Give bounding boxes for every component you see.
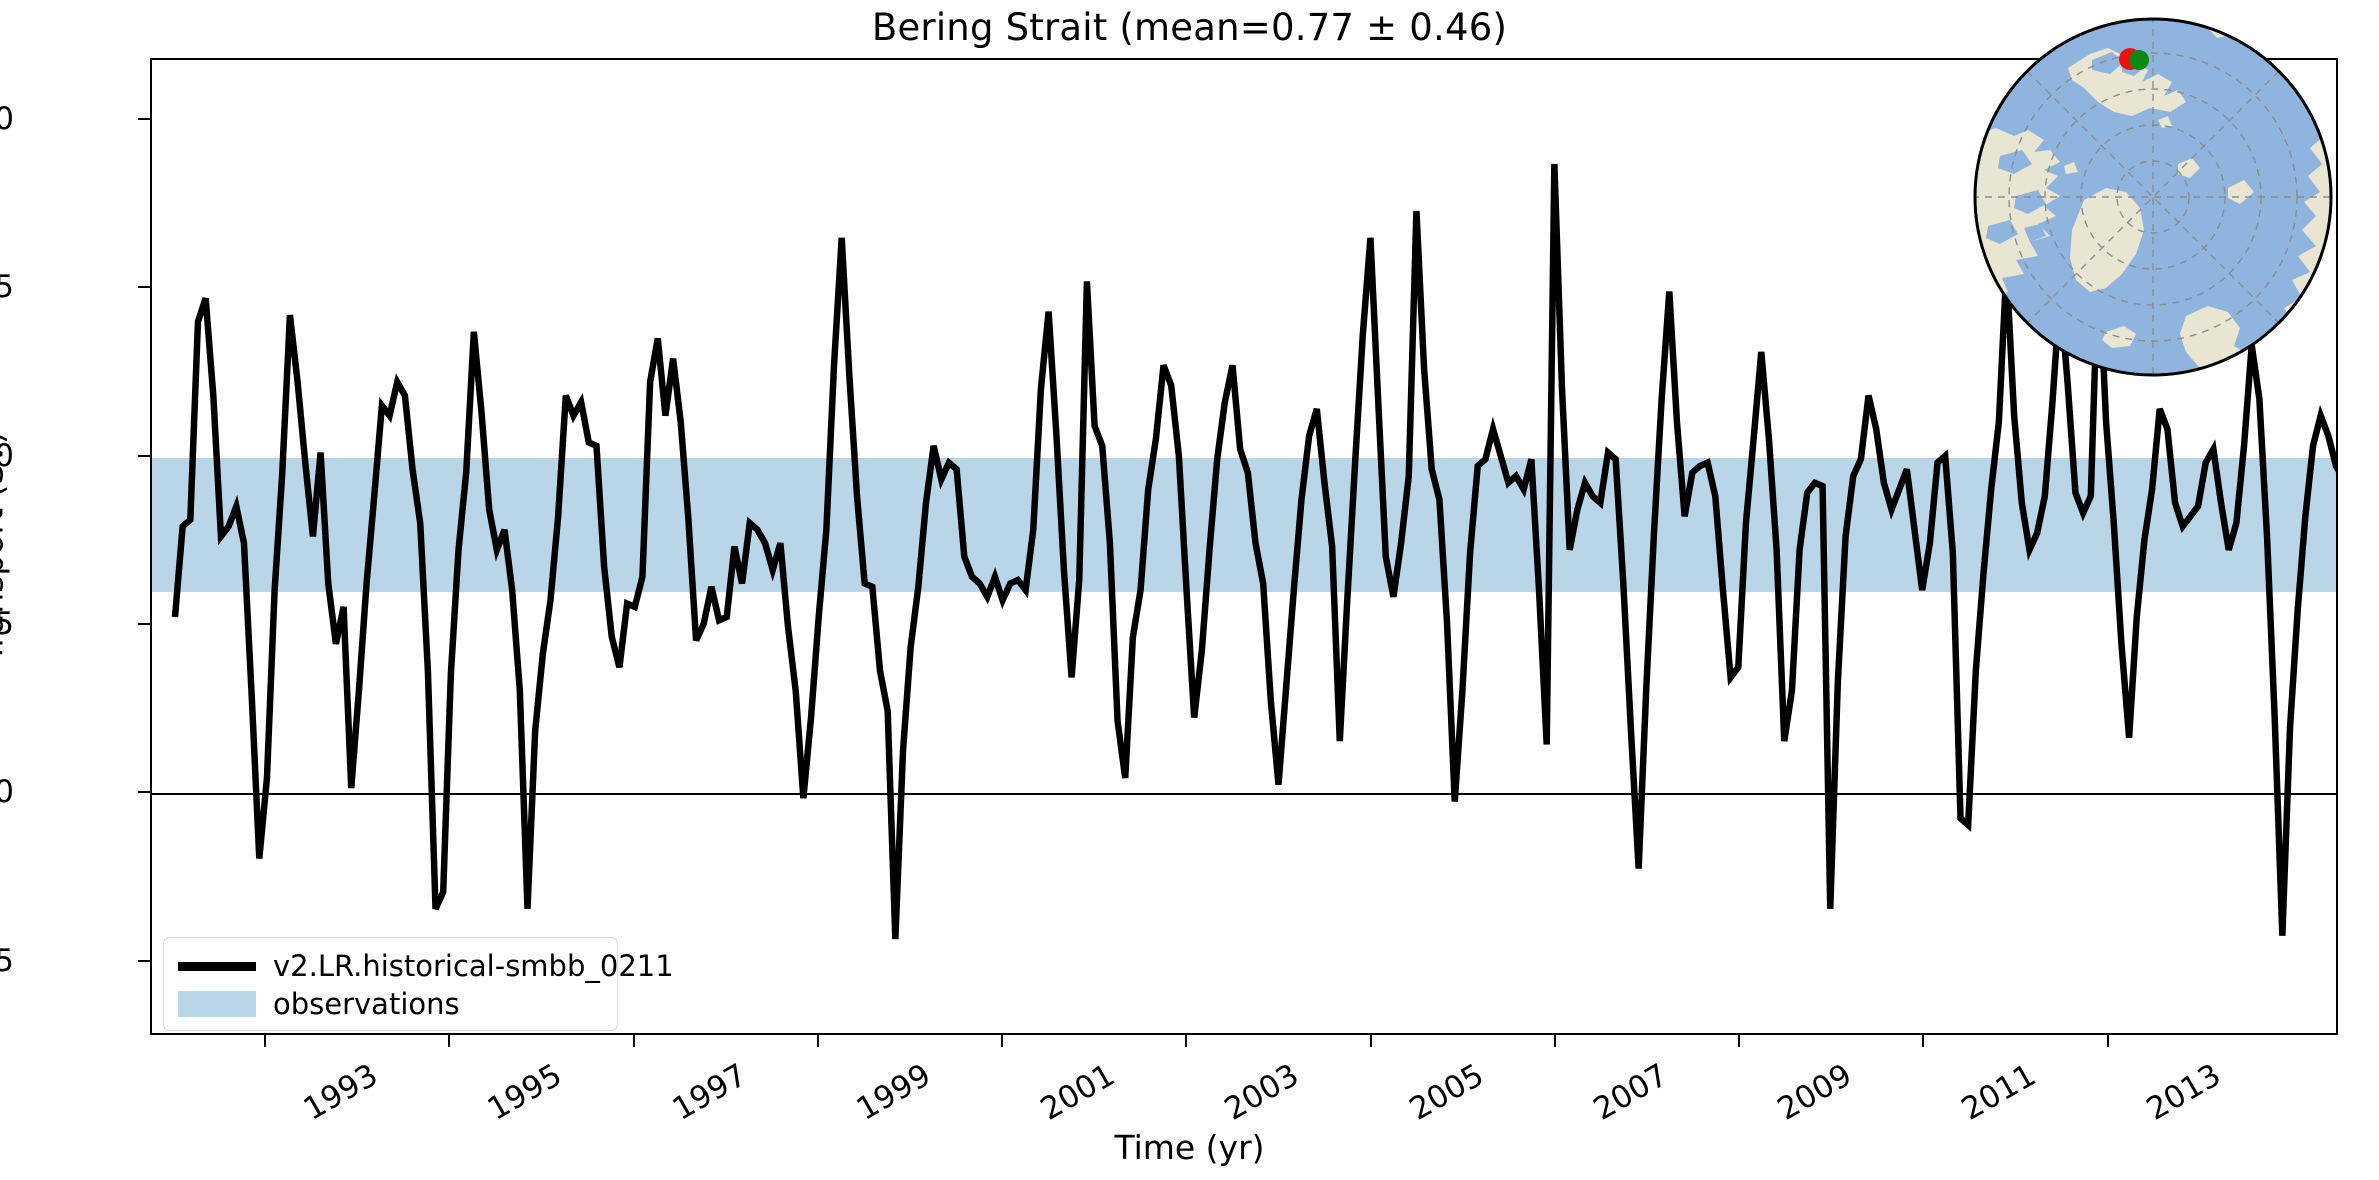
x-tick-label: 2001 (1035, 1057, 1121, 1128)
y-tick-mark (138, 791, 150, 793)
x-tick-mark (1370, 1035, 1372, 1047)
x-tick-label: 2009 (1772, 1057, 1858, 1128)
legend-item-model[interactable]: v2.LR.historical-smbb_0211 (178, 947, 603, 985)
x-axis-label: Time (yr) (0, 1128, 2379, 1167)
legend-label-observations: observations (273, 987, 460, 1021)
x-tick-mark (2107, 1035, 2109, 1047)
x-tick-label: 2005 (1403, 1057, 1489, 1128)
x-tick-mark (1185, 1035, 1187, 1047)
x-tick-label: 1997 (666, 1057, 752, 1128)
y-tick-label: 1.5 (0, 269, 14, 305)
y-tick-mark (138, 960, 150, 962)
x-tick-mark (264, 1035, 266, 1047)
x-tick-mark (1001, 1035, 1003, 1047)
x-tick-mark (1738, 1035, 1740, 1047)
x-tick-label: 2011 (1956, 1057, 2042, 1128)
y-tick-label: 0.0 (0, 774, 14, 810)
x-tick-mark (633, 1035, 635, 1047)
x-tick-label: 2003 (1219, 1057, 1305, 1128)
legend-line-swatch-icon (178, 962, 256, 971)
y-tick-label: 0.5 (0, 606, 14, 642)
x-tick-label: 1993 (298, 1057, 384, 1128)
y-tick-label: 1.0 (0, 438, 14, 474)
y-tick-mark (138, 623, 150, 625)
x-tick-label: 2007 (1587, 1057, 1673, 1128)
matplotlib-figure: Bering Strait (mean=0.77 ± 0.46) Transpo… (0, 0, 2379, 1180)
y-tick-mark (138, 118, 150, 120)
x-tick-mark (1922, 1035, 1924, 1047)
x-tick-mark (448, 1035, 450, 1047)
north-polar-stereographic-map-inset (1972, 16, 2334, 378)
legend: v2.LR.historical-smbb_0211 observations (163, 937, 618, 1031)
x-tick-label: 1995 (482, 1057, 568, 1128)
y-tick-mark (138, 455, 150, 457)
legend-patch-swatch-icon (178, 991, 256, 1017)
legend-item-observations[interactable]: observations (178, 985, 603, 1023)
x-tick-label: 2013 (2140, 1057, 2226, 1128)
transect-marker-green (2129, 50, 2149, 70)
y-tick-label: 2.0 (0, 101, 14, 137)
x-tick-mark (817, 1035, 819, 1047)
x-tick-label: 1999 (850, 1057, 936, 1128)
y-tick-label: −0.5 (0, 943, 14, 979)
x-tick-mark (1554, 1035, 1556, 1047)
y-tick-mark (138, 286, 150, 288)
legend-label-model: v2.LR.historical-smbb_0211 (273, 949, 674, 983)
inset-map-svg (1972, 16, 2334, 378)
